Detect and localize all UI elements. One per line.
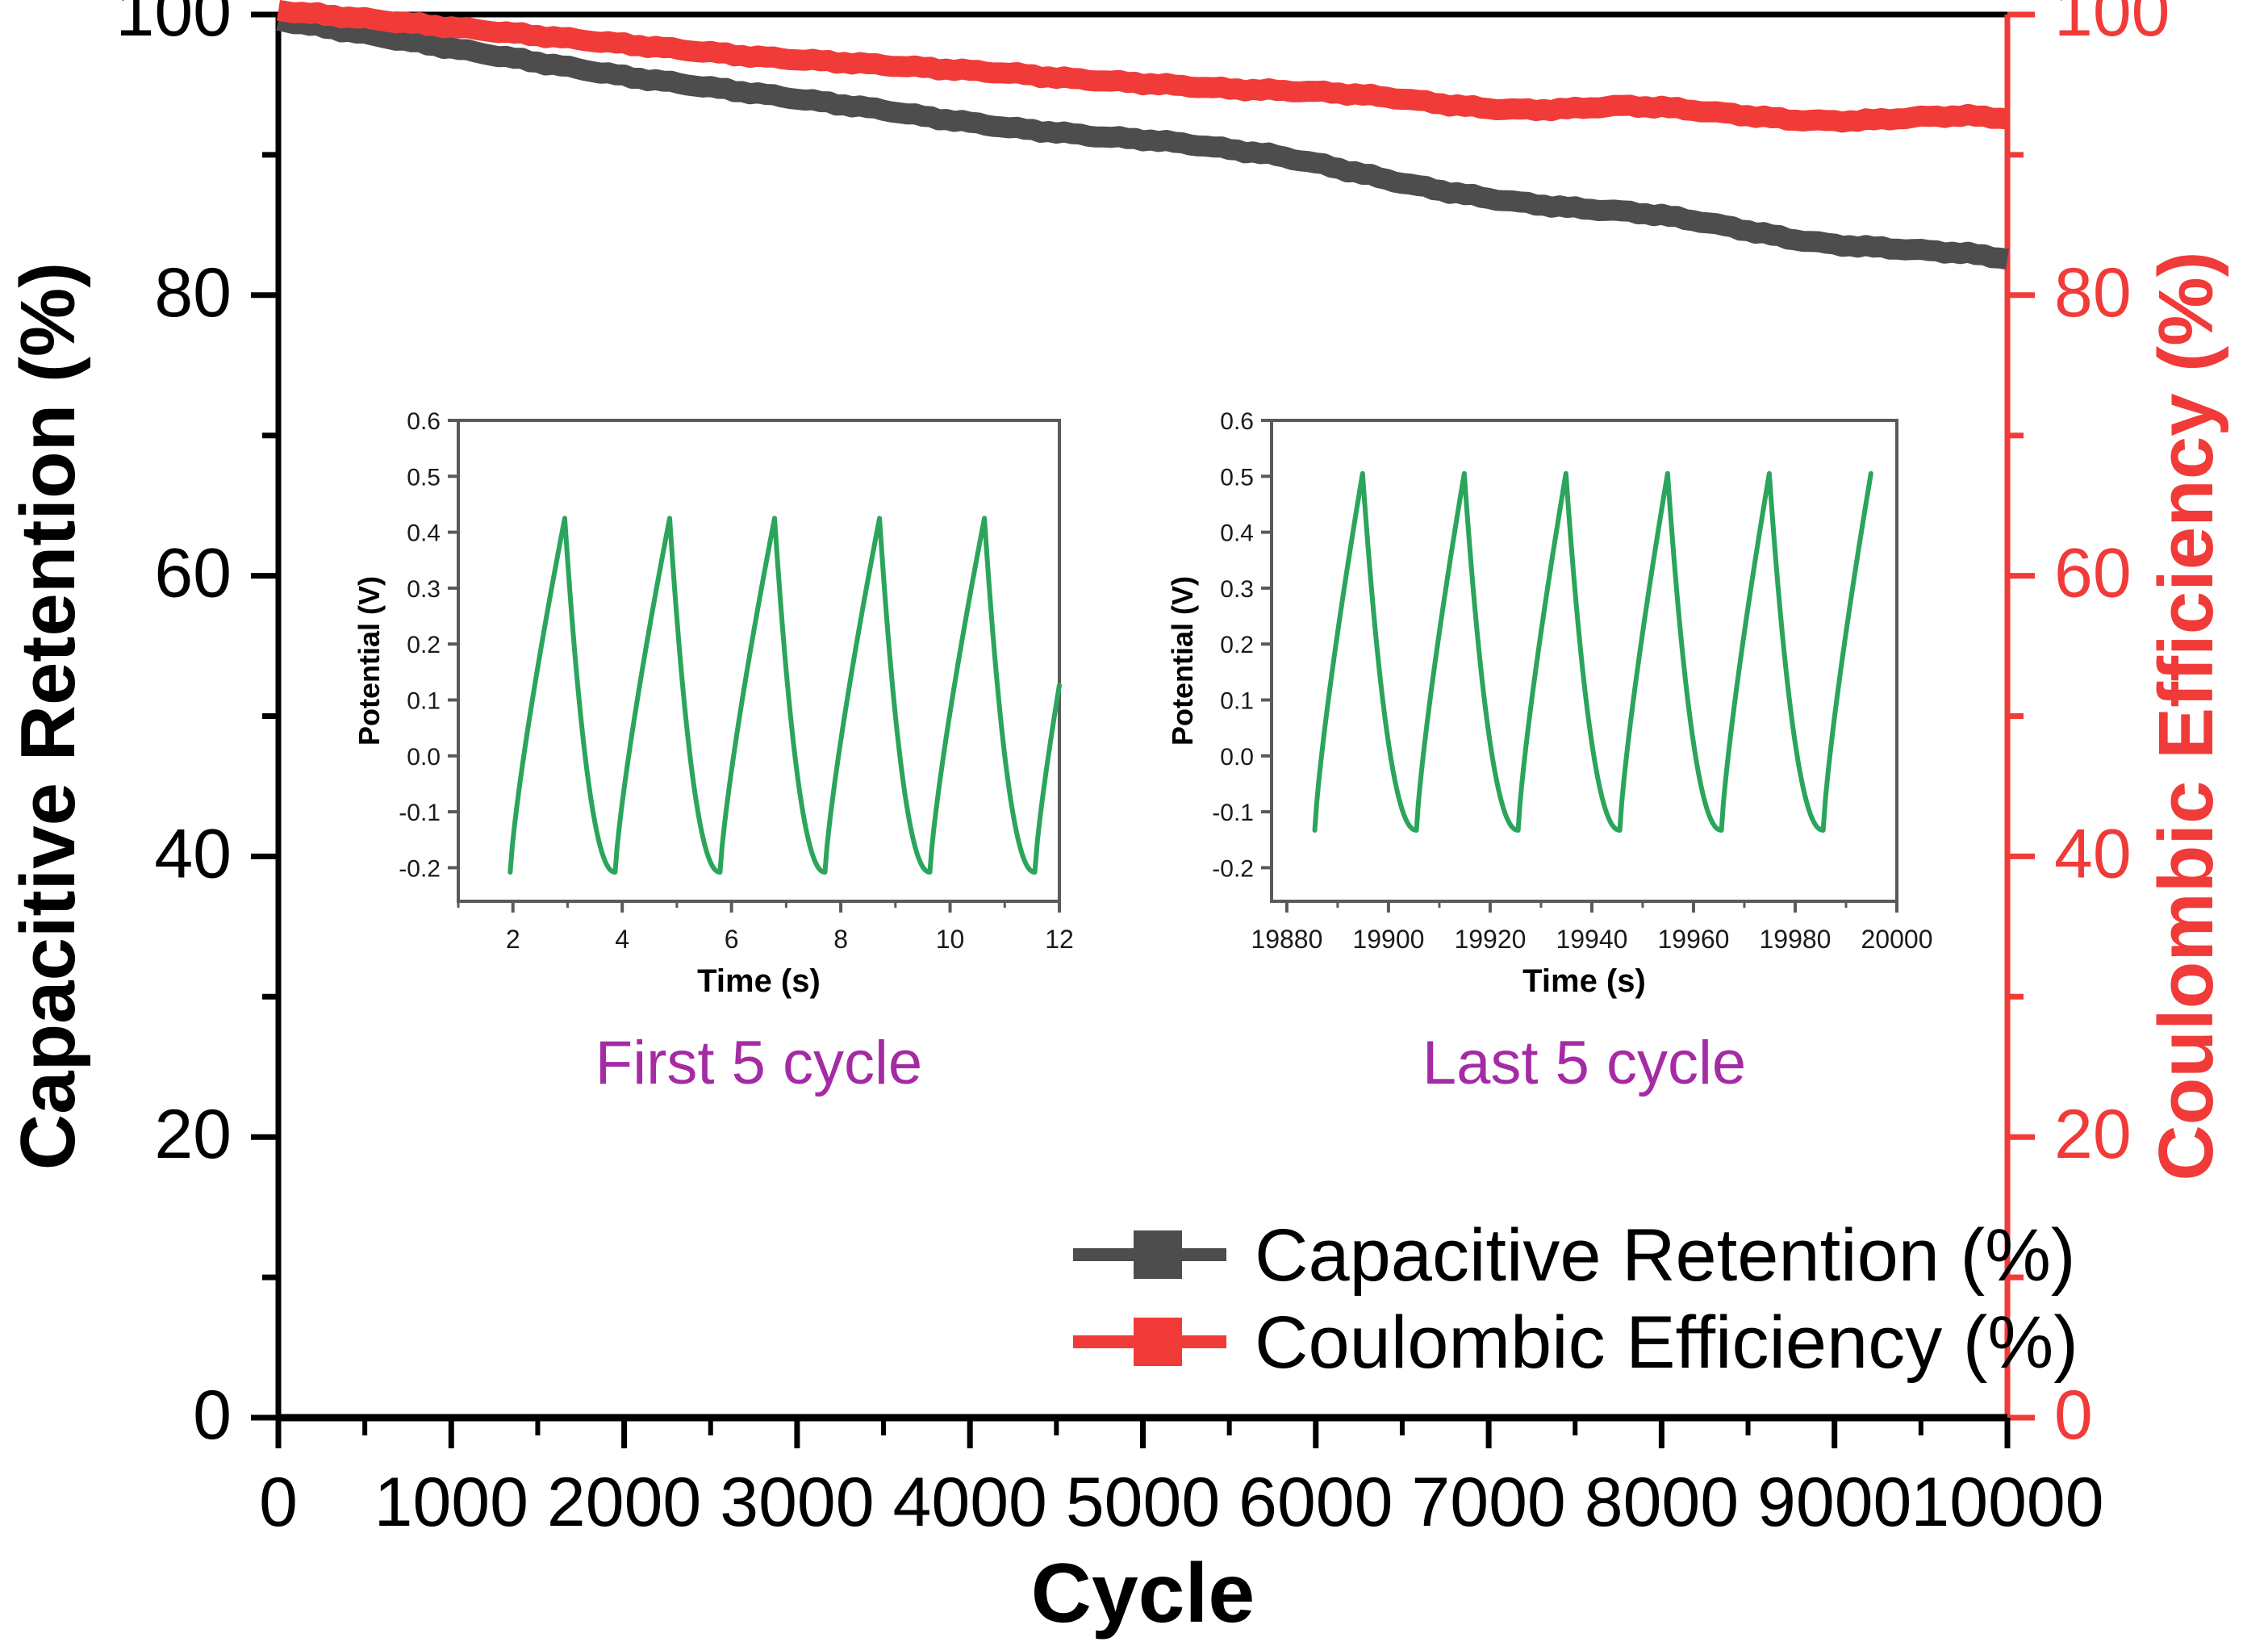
left-axis-title: Capacitive Retention (%) [5,262,91,1171]
inset-first-y-tick-label: 0.5 [407,464,441,491]
right-axis-tick-label: 100 [2054,0,2170,51]
x-axis-tick-label: 10000 [1911,1464,2103,1541]
inset-last-y-tick-label: 0.4 [1220,520,1254,547]
inset-first-y-tick-label: 0.0 [407,744,441,771]
inset-first-x-tick-label: 2 [506,925,520,954]
x-axis-tick-label: 0 [259,1464,298,1541]
x-axis-tick-label: 3000 [720,1464,874,1541]
right-axis-tick-label: 60 [2054,535,2132,612]
x-axis-title: Cycle [1031,1547,1255,1640]
legend-marker-1 [1134,1318,1182,1366]
inset-last-x-tick-label: 19900 [1352,925,1424,954]
inset-first-y-axis-title: Potential (V) [353,576,386,746]
x-axis-tick-label: 6000 [1238,1464,1393,1541]
inset-last-y-tick-label: 0.1 [1220,688,1254,715]
left-axis-tick-label: 60 [154,535,232,612]
dual-axis-cycling-chart: 0204060801000204060801000100020003000400… [0,0,2268,1646]
inset-last-caption: Last 5 cycle [1422,1029,1746,1097]
right-axis-title: Coulombic Efficiency (%) [2143,251,2229,1180]
inset-first-x-tick-label: 12 [1045,925,1074,954]
inset-last-x-tick-label: 19940 [1556,925,1627,954]
left-axis-tick-label: 80 [154,254,232,332]
left-axis-tick-label: 40 [154,815,232,892]
right-axis-tick-label: 80 [2054,254,2132,332]
left-axis-tick-label: 0 [193,1377,232,1454]
inset-first-y-tick-label: -0.2 [399,855,441,882]
x-axis-tick-label: 7000 [1411,1464,1565,1541]
inset-first-y-tick-label: 0.3 [407,576,441,603]
x-axis-tick-label: 1000 [374,1464,528,1541]
legend-label-0: Capacitive Retention (%) [1255,1214,2076,1297]
inset-last-y-tick-label: -0.1 [1212,800,1254,826]
inset-first-x-axis-title: Time (s) [697,963,821,999]
inset-last-y-tick-label: -0.2 [1212,855,1254,882]
inset-last-x-tick-label: 19880 [1251,925,1322,954]
inset-first-y-tick-label: 0.1 [407,688,441,715]
left-axis-tick-label: 100 [116,0,232,51]
inset-last-y-tick-label: 0.6 [1220,408,1254,435]
inset-first-y-tick-label: 0.6 [407,408,441,435]
inset-last-y-axis-title: Potential (V) [1166,576,1199,746]
inset-first-x-tick-label: 4 [615,925,629,954]
right-axis-tick-label: 20 [2054,1096,2132,1173]
x-axis-tick-label: 4000 [893,1464,1047,1541]
inset-first-y-tick-label: 0.4 [407,520,441,547]
inset-last-x-tick-label: 19980 [1759,925,1831,954]
retention-series-line [278,20,2007,259]
inset-last-x-tick-label: 19960 [1657,925,1729,954]
x-axis-tick-label: 2000 [547,1464,701,1541]
inset-first-x-tick-label: 10 [936,925,965,954]
inset-last-x-tick-label: 20000 [1861,925,1933,954]
inset-last-y-tick-label: 0.0 [1220,744,1254,771]
legend-marker-0 [1134,1230,1182,1279]
inset-first-x-tick-label: 8 [833,925,848,954]
inset-first-x-tick-label: 6 [725,925,739,954]
x-axis-tick-label: 9000 [1757,1464,1911,1541]
inset-last-x-axis-title: Time (s) [1522,963,1646,999]
x-axis-tick-label: 5000 [1066,1464,1220,1541]
inset-last-y-tick-label: 0.2 [1220,632,1254,658]
inset-first-frame [458,420,1059,901]
inset-last-x-tick-label: 19920 [1454,925,1526,954]
inset-first-y-tick-label: 0.2 [407,632,441,658]
right-axis-tick-label: 0 [2054,1377,2093,1454]
inset-first-caption: First 5 cycle [595,1029,922,1097]
chart-canvas: 0204060801000204060801000100020003000400… [0,0,2268,1646]
inset-last-y-tick-label: 0.3 [1220,576,1254,603]
legend-label-1: Coulombic Efficiency (%) [1255,1301,2078,1384]
inset-first-y-tick-label: -0.1 [399,800,441,826]
left-axis-tick-label: 20 [154,1096,232,1173]
inset-last-y-tick-label: 0.5 [1220,464,1254,491]
right-axis-tick-label: 40 [2054,815,2132,892]
x-axis-tick-label: 8000 [1585,1464,1739,1541]
